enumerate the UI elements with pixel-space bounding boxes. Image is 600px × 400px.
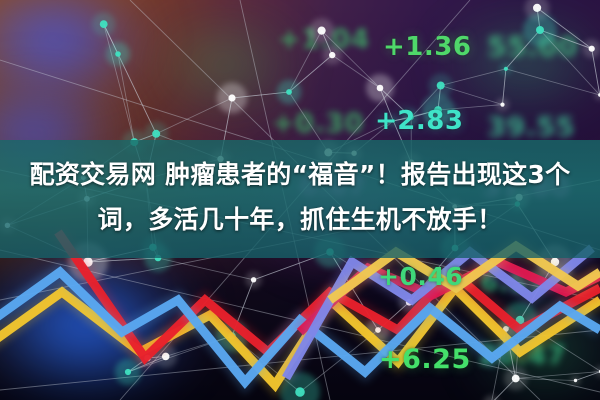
ticker-value: +6.25	[379, 344, 471, 375]
ticker-value: +2.83	[375, 106, 463, 136]
ticker-value: +0.46	[378, 262, 463, 291]
headline-line-1: 配资交易网 肿瘤患者的“福音”！报告出现这3个	[0, 158, 600, 192]
ticker-value: +1.36	[383, 32, 471, 62]
headline-line-2: 词，多活几十年，抓住生机不放手！	[0, 203, 600, 237]
banner-image: +1.04+0.3055.0039.550.8737.806.5920.47 +…	[0, 0, 600, 400]
